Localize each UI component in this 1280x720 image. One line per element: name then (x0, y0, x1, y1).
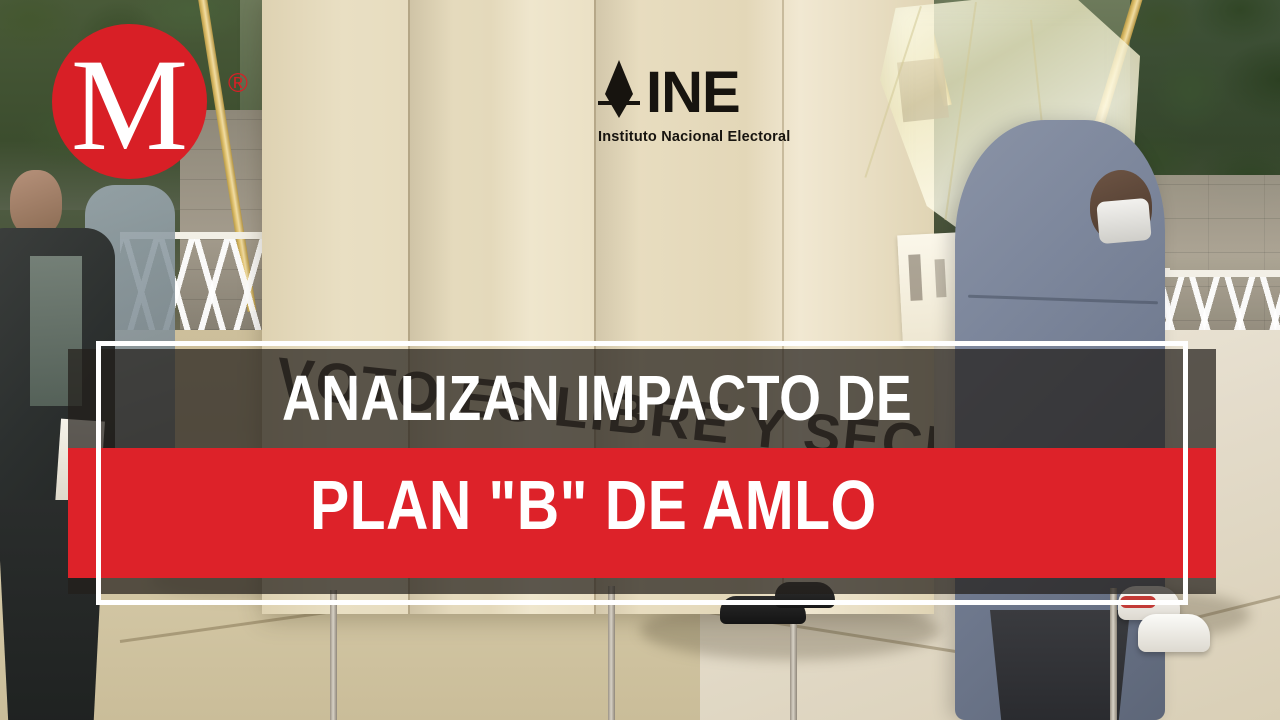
booth-slogan-text: VOTO ES LIBRE Y SECRETO (273, 344, 934, 460)
booth-leg (608, 586, 615, 720)
ine-logo: INE Instituto Nacional Electoral (598, 60, 798, 145)
ine-wordmark: INE (646, 65, 740, 120)
ine-subtitle: Instituto Nacional Electoral (598, 129, 798, 145)
bystander-shoe (775, 582, 835, 608)
person-shirt (30, 256, 82, 406)
ine-logo-row: INE (598, 60, 798, 126)
voter-collar (1096, 198, 1151, 244)
news-still: INE Instituto Nacional Electoral VOTO ES… (0, 0, 1280, 720)
brand-letter-m: M (71, 39, 188, 171)
brand-circle: M (52, 24, 207, 179)
sneaker-red-accent (1120, 596, 1156, 608)
booth-panel-shading (408, 0, 454, 614)
booth-leg (330, 590, 337, 720)
person-left-standing (0, 170, 130, 710)
booth-leg (1110, 588, 1117, 720)
booth-skirt: VOTO ES LIBRE Y SECRETO (262, 340, 934, 460)
person-legs (0, 500, 105, 720)
bystander-sneaker (1138, 614, 1210, 652)
person-held-papers (55, 419, 105, 508)
voter-trousers (990, 610, 1130, 720)
registered-trademark-icon: ® (228, 70, 248, 97)
milenio-brand-bug: M ® (52, 24, 264, 184)
ine-diamond-icon (598, 60, 640, 126)
